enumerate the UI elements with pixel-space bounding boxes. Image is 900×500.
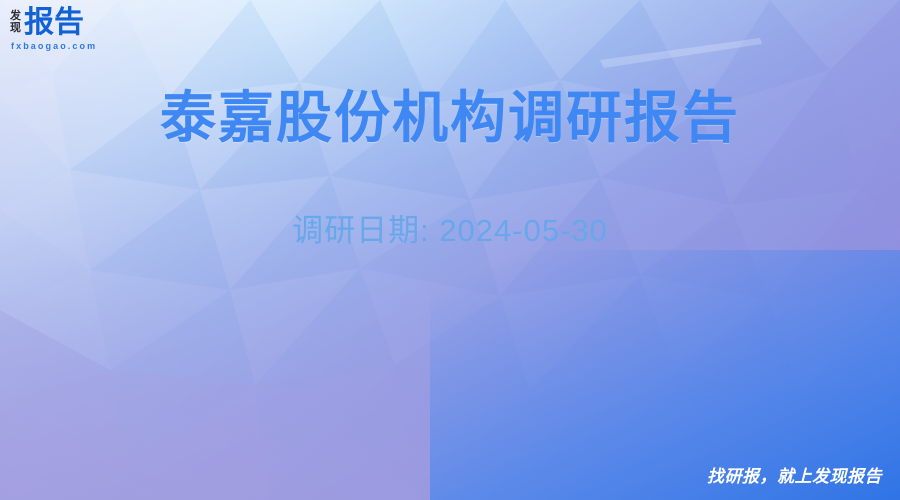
report-cover-slide: 发 现 报告 fxbaogao.com 泰嘉股份机构调研报告 调研日期: 202… (0, 0, 900, 500)
logo-row: 发 现 报告 (10, 8, 84, 38)
logo-stack-bottom: 现 (10, 23, 21, 34)
footer-tagline: 找研报，就上发现报告 (707, 462, 882, 487)
logo-stacked-characters: 发 现 (10, 11, 21, 34)
logo-wordmark: 报告 (24, 8, 84, 38)
survey-date: 调研日期: 2024-05-30 (0, 212, 900, 249)
title-block: 泰嘉股份机构调研报告 调研日期: 2024-05-30 (0, 86, 900, 250)
low-poly-background (0, 0, 900, 500)
brand-logo[interactable]: 发 现 报告 fxbaogao.com (10, 8, 97, 51)
logo-domain: fxbaogao.com (11, 41, 97, 51)
logo-stack-top: 发 (10, 11, 21, 22)
page-title: 泰嘉股份机构调研报告 (0, 86, 900, 150)
